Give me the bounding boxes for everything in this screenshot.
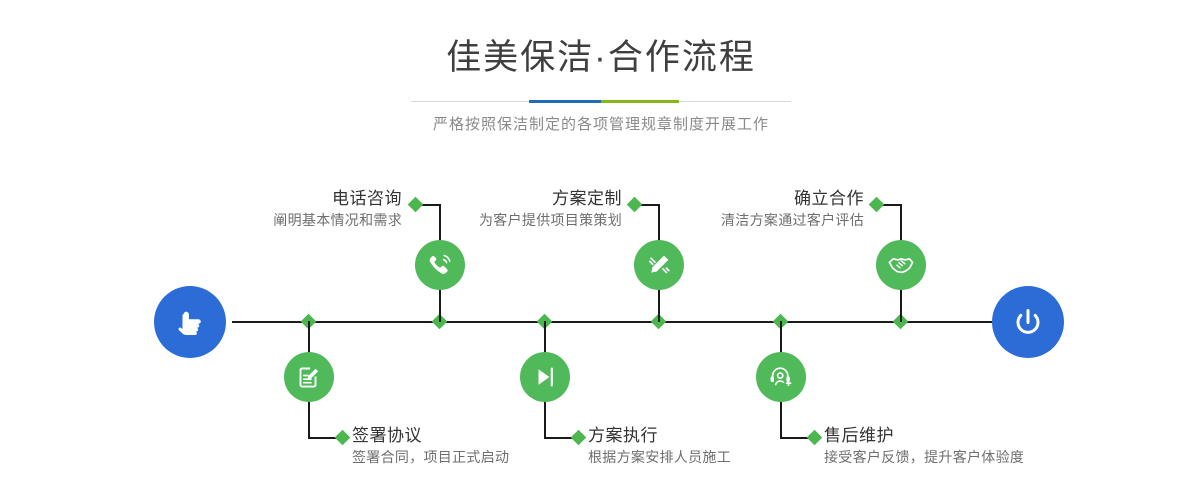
page-subtitle: 严格按照保洁制定的各项管理规章制度开展工作 [0,103,1202,135]
phone-call-icon [425,250,455,280]
step-subtitle: 清洁方案通过客户评估 [612,210,864,230]
step-title: 电话咨询 [150,188,402,210]
label-marker [869,197,885,213]
step-subtitle: 接受客户反馈，提升客户体验度 [824,447,1144,467]
step-icon-circle[interactable] [634,240,684,290]
pencil-design-icon [644,250,674,280]
title-divider [411,100,791,103]
divider-green-segment [601,100,679,103]
header: 佳美保洁·合作流程 严格按照保洁制定的各项管理规章制度开展工作 [0,0,1202,135]
page-title: 佳美保洁·合作流程 [0,0,1202,78]
step-subtitle: 为客户提供项目策策划 [370,210,622,230]
document-edit-icon [294,362,324,392]
step-subtitle: 阐明基本情况和需求 [150,210,402,230]
step-icon-circle[interactable] [756,352,806,402]
flow-diagram-canvas: 佳美保洁·合作流程 严格按照保洁制定的各项管理规章制度开展工作 [0,0,1202,502]
step-title: 确立合作 [612,188,864,210]
step-icon-circle[interactable] [520,352,570,402]
step-title: 方案定制 [370,188,622,210]
power-icon [1008,302,1048,342]
step-label: 方案定制 为客户提供项目策策划 [370,188,622,230]
play-execute-icon [530,362,560,392]
label-marker [335,430,351,446]
step-title: 售后维护 [824,425,1144,447]
customer-support-icon [766,362,796,392]
step-icon-circle[interactable] [876,240,926,290]
step-icon-circle[interactable] [284,352,334,402]
timeline-start-node[interactable] [154,286,226,358]
step-icon-circle[interactable] [415,240,465,290]
handshake-icon [886,250,916,280]
pointing-hand-icon [170,302,210,342]
timeline-axis [232,321,992,323]
timeline-end-node[interactable] [992,286,1064,358]
divider-blue-segment [529,100,601,103]
step-label: 售后维护 接受客户反馈，提升客户体验度 [824,425,1144,467]
step-label: 电话咨询 阐明基本情况和需求 [150,188,402,230]
step-label: 确立合作 清洁方案通过客户评估 [612,188,864,230]
